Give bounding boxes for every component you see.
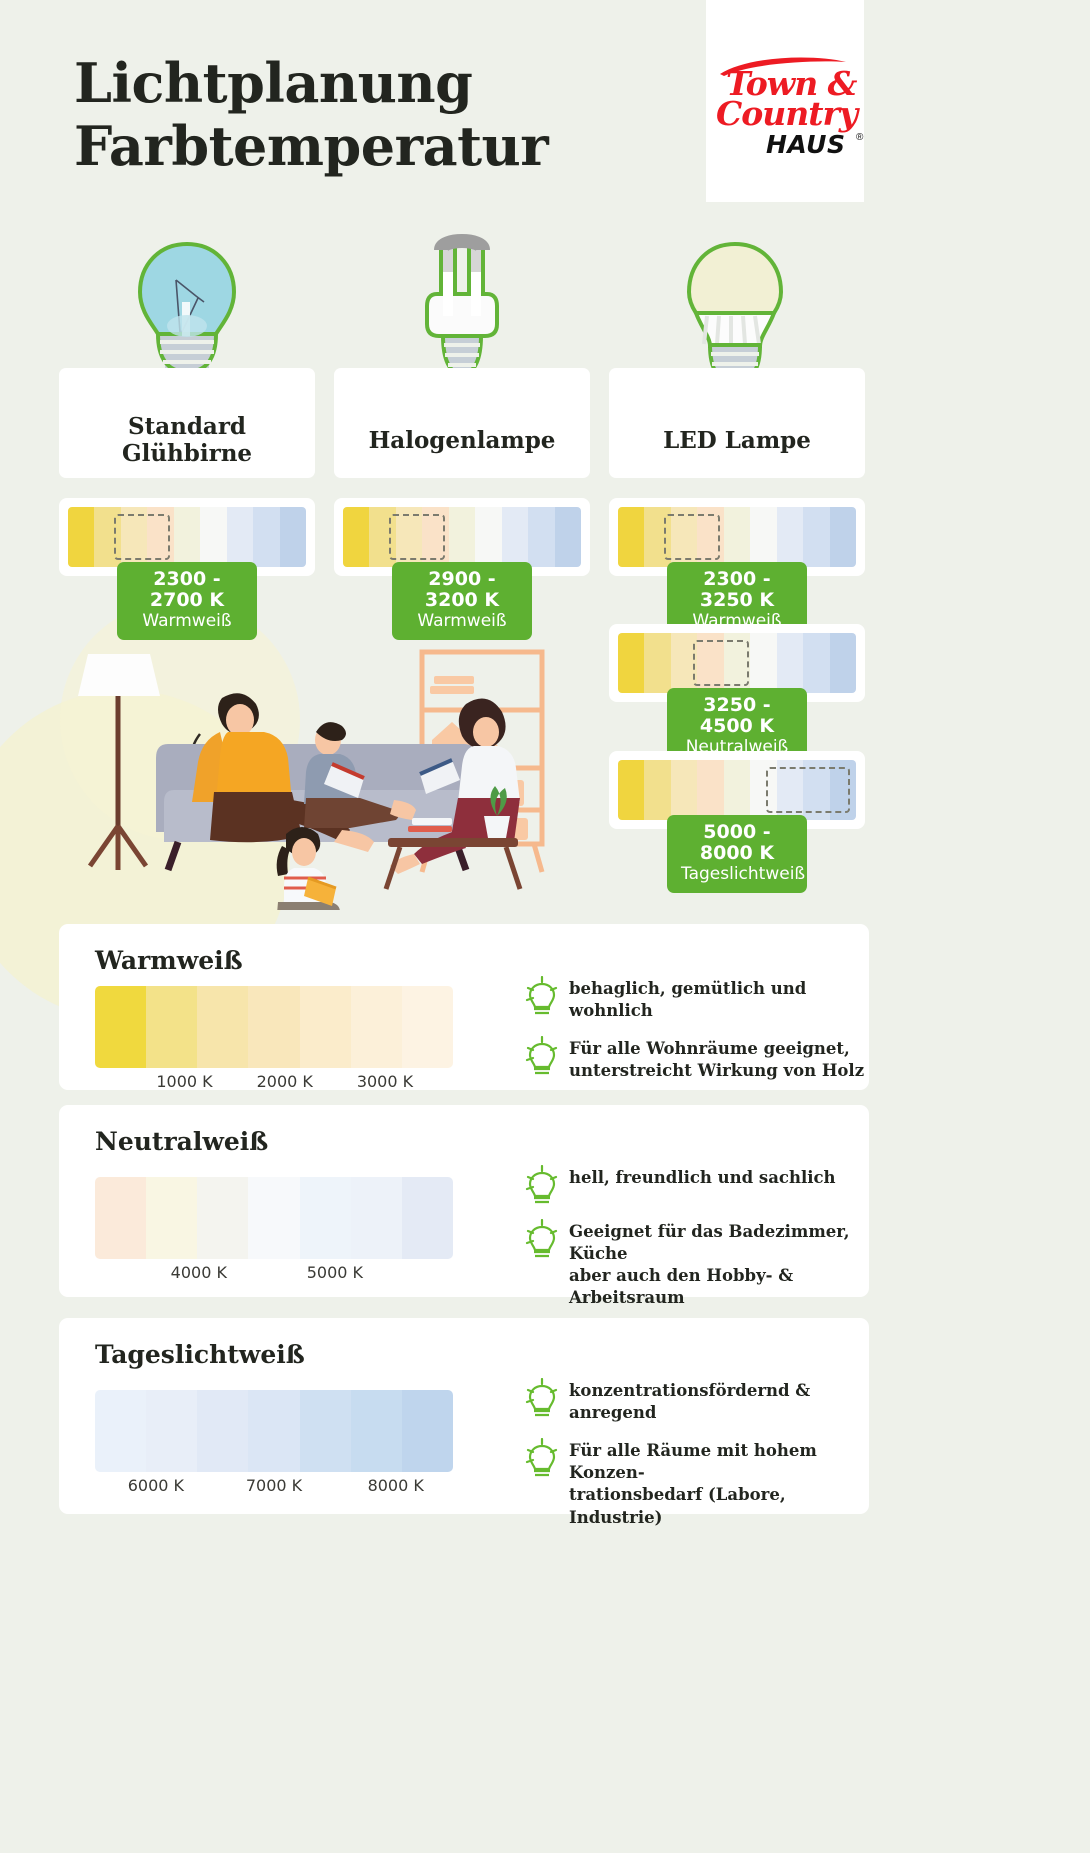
bulb-bullet-icon (525, 1378, 559, 1418)
list-item: Geeignet für das Badezimmer, Kücheaber a… (525, 1221, 869, 1309)
badge-name: Tageslichtweiß (681, 865, 793, 884)
color-band (95, 986, 146, 1068)
bullet-text: behaglich, gemütlich und wohnlich (569, 978, 869, 1022)
section-title: Tageslichtweiß (95, 1340, 305, 1369)
selection-box (114, 514, 170, 560)
section-bullets: hell, freundlich und sachlich Geeignet f… (525, 1167, 869, 1325)
led-bulb-icon (683, 240, 787, 385)
color-band (174, 507, 200, 567)
section-title: Neutralweiß (95, 1127, 268, 1156)
logo-registered-icon: ® (856, 132, 863, 143)
badge-name: Warmweiß (406, 612, 518, 631)
list-item: konzentrationsfördernd & anregend (525, 1380, 869, 1424)
infographic-page: Lichtplanung Farbtemperatur Town & Count… (0, 0, 1090, 1853)
badge-kelvin: 2300 - 2700 K (131, 569, 243, 612)
axis-tick-label: 7000 K (246, 1476, 302, 1495)
detail-panel-warmweiss: Warmweiß 1000 K2000 K3000 K behaglich, g… (59, 924, 869, 1090)
cfl-bulb-icon (423, 232, 501, 387)
incandescent-bulb-icon (132, 240, 242, 385)
color-band (555, 507, 581, 567)
color-band (777, 507, 803, 567)
color-band (351, 1177, 402, 1259)
lamp-type-card-halogen[interactable]: Halogenlampe (334, 368, 590, 478)
bulb-bullet-icon (525, 1036, 559, 1076)
bulb-bullet-icon (525, 976, 559, 1016)
color-band (724, 507, 750, 567)
detail-panel-neutralweiss: Neutralweiß 4000 K5000 K hell, freundlic… (59, 1105, 869, 1297)
temperature-badge-incandescent: 2300 - 2700 K Warmweiß (117, 562, 257, 640)
section-title: Warmweiß (95, 946, 243, 975)
color-band (671, 760, 697, 820)
color-band (803, 633, 829, 693)
section-gradient (95, 986, 453, 1068)
color-band (618, 507, 644, 567)
color-band (248, 986, 299, 1068)
detail-panel-tageslichtweiss: Tageslichtweiß 6000 K7000 K8000 K konzen… (59, 1318, 869, 1514)
color-band (644, 760, 670, 820)
bullet-text: Für alle Wohnräume geeignet,unterstreich… (569, 1038, 864, 1082)
color-band (146, 1390, 197, 1472)
list-item: Für alle Wohnräume geeignet,unterstreich… (525, 1038, 869, 1082)
section-ticks: 1000 K2000 K3000 K (95, 1072, 453, 1094)
color-band (777, 633, 803, 693)
axis-tick-label: 6000 K (128, 1476, 184, 1495)
section-bullets: behaglich, gemütlich und wohnlich Für al… (525, 978, 869, 1098)
temperature-badge-halogen: 2900 - 3200 K Warmweiß (392, 562, 532, 640)
color-band (68, 507, 94, 567)
color-band (351, 1390, 402, 1472)
page-title-line1: Lichtplanung (74, 52, 674, 115)
bullet-text: Geeignet für das Badezimmer, Kücheaber a… (569, 1221, 869, 1309)
color-band (197, 986, 248, 1068)
family-living-room-illustration (70, 640, 600, 910)
list-item: hell, freundlich und sachlich (525, 1167, 869, 1205)
color-band (449, 507, 475, 567)
section-bullets: konzentrationsfördernd & anregend Für al… (525, 1380, 869, 1545)
color-band (95, 1390, 146, 1472)
color-band (300, 986, 351, 1068)
logo-country-text: Country (716, 94, 857, 133)
lamp-type-label: LED Lampe (663, 427, 811, 454)
color-band (830, 507, 856, 567)
color-band (197, 1390, 248, 1472)
temperature-strip (343, 507, 581, 567)
color-band (750, 633, 776, 693)
list-item: behaglich, gemütlich und wohnlich (525, 978, 869, 1022)
section-gradient (95, 1177, 453, 1259)
color-band (248, 1390, 299, 1472)
color-band (146, 986, 197, 1068)
bulb-bullet-icon (525, 1219, 559, 1259)
color-band (750, 507, 776, 567)
axis-tick-label: 2000 K (257, 1072, 313, 1091)
badge-kelvin: 2900 - 3200 K (406, 569, 518, 612)
axis-tick-label: 5000 K (307, 1263, 363, 1282)
color-band (402, 1177, 453, 1259)
color-band (803, 507, 829, 567)
color-band (402, 986, 453, 1068)
color-band (248, 1177, 299, 1259)
color-band (644, 633, 670, 693)
color-band (618, 633, 644, 693)
color-band (528, 507, 554, 567)
bullet-text: Für alle Räume mit hohem Konzen-trations… (569, 1440, 869, 1528)
color-band (697, 760, 723, 820)
section-ticks: 6000 K7000 K8000 K (95, 1476, 453, 1498)
color-band (227, 507, 253, 567)
color-band (724, 760, 750, 820)
color-band (146, 1177, 197, 1259)
axis-tick-label: 8000 K (368, 1476, 424, 1495)
color-band (200, 507, 226, 567)
color-band (475, 507, 501, 567)
selection-box (693, 640, 749, 686)
color-band (351, 986, 402, 1068)
axis-tick-label: 1000 K (156, 1072, 212, 1091)
badge-kelvin: 3250 - 4500 K (681, 695, 793, 738)
selection-box (766, 767, 850, 813)
badge-name: Warmweiß (131, 612, 243, 631)
selection-box (664, 514, 720, 560)
color-band (300, 1390, 351, 1472)
brand-logo: Town & Country HAUS ® (706, 0, 864, 202)
bullet-text: hell, freundlich und sachlich (569, 1167, 836, 1189)
bullet-text: konzentrationsfördernd & anregend (569, 1380, 869, 1424)
color-band (253, 507, 279, 567)
logo-haus-text: HAUS (766, 130, 845, 159)
badge-kelvin: 5000 - 8000 K (681, 822, 793, 865)
color-band (197, 1177, 248, 1259)
color-band (300, 1177, 351, 1259)
temperature-strip (618, 507, 856, 567)
selection-box (389, 514, 445, 560)
page-title: Lichtplanung Farbtemperatur (74, 52, 674, 177)
lamp-type-label: Halogenlampe (369, 427, 556, 454)
bulb-bullet-icon (525, 1438, 559, 1478)
lamp-type-card-incandescent[interactable]: Standard Glühbirne (59, 368, 315, 478)
color-band (95, 1177, 146, 1259)
section-ticks: 4000 K5000 K (95, 1263, 453, 1285)
color-band (402, 1390, 453, 1472)
temperature-badge-led-daylight: 5000 - 8000 K Tageslichtweiß (667, 815, 807, 893)
axis-tick-label: 4000 K (171, 1263, 227, 1282)
page-title-line2: Farbtemperatur (74, 115, 674, 178)
list-item: Für alle Räume mit hohem Konzen-trations… (525, 1440, 869, 1528)
lamp-type-card-led[interactable]: LED Lampe (609, 368, 865, 478)
lamp-type-label: Standard Glühbirne (59, 413, 315, 467)
section-gradient (95, 1390, 453, 1472)
axis-tick-label: 3000 K (357, 1072, 413, 1091)
color-band (280, 507, 306, 567)
color-band (618, 760, 644, 820)
bulb-bullet-icon (525, 1165, 559, 1205)
color-band (343, 507, 369, 567)
color-band (830, 633, 856, 693)
color-band (502, 507, 528, 567)
temperature-strip (68, 507, 306, 567)
badge-kelvin: 2300 - 3250 K (681, 569, 793, 612)
